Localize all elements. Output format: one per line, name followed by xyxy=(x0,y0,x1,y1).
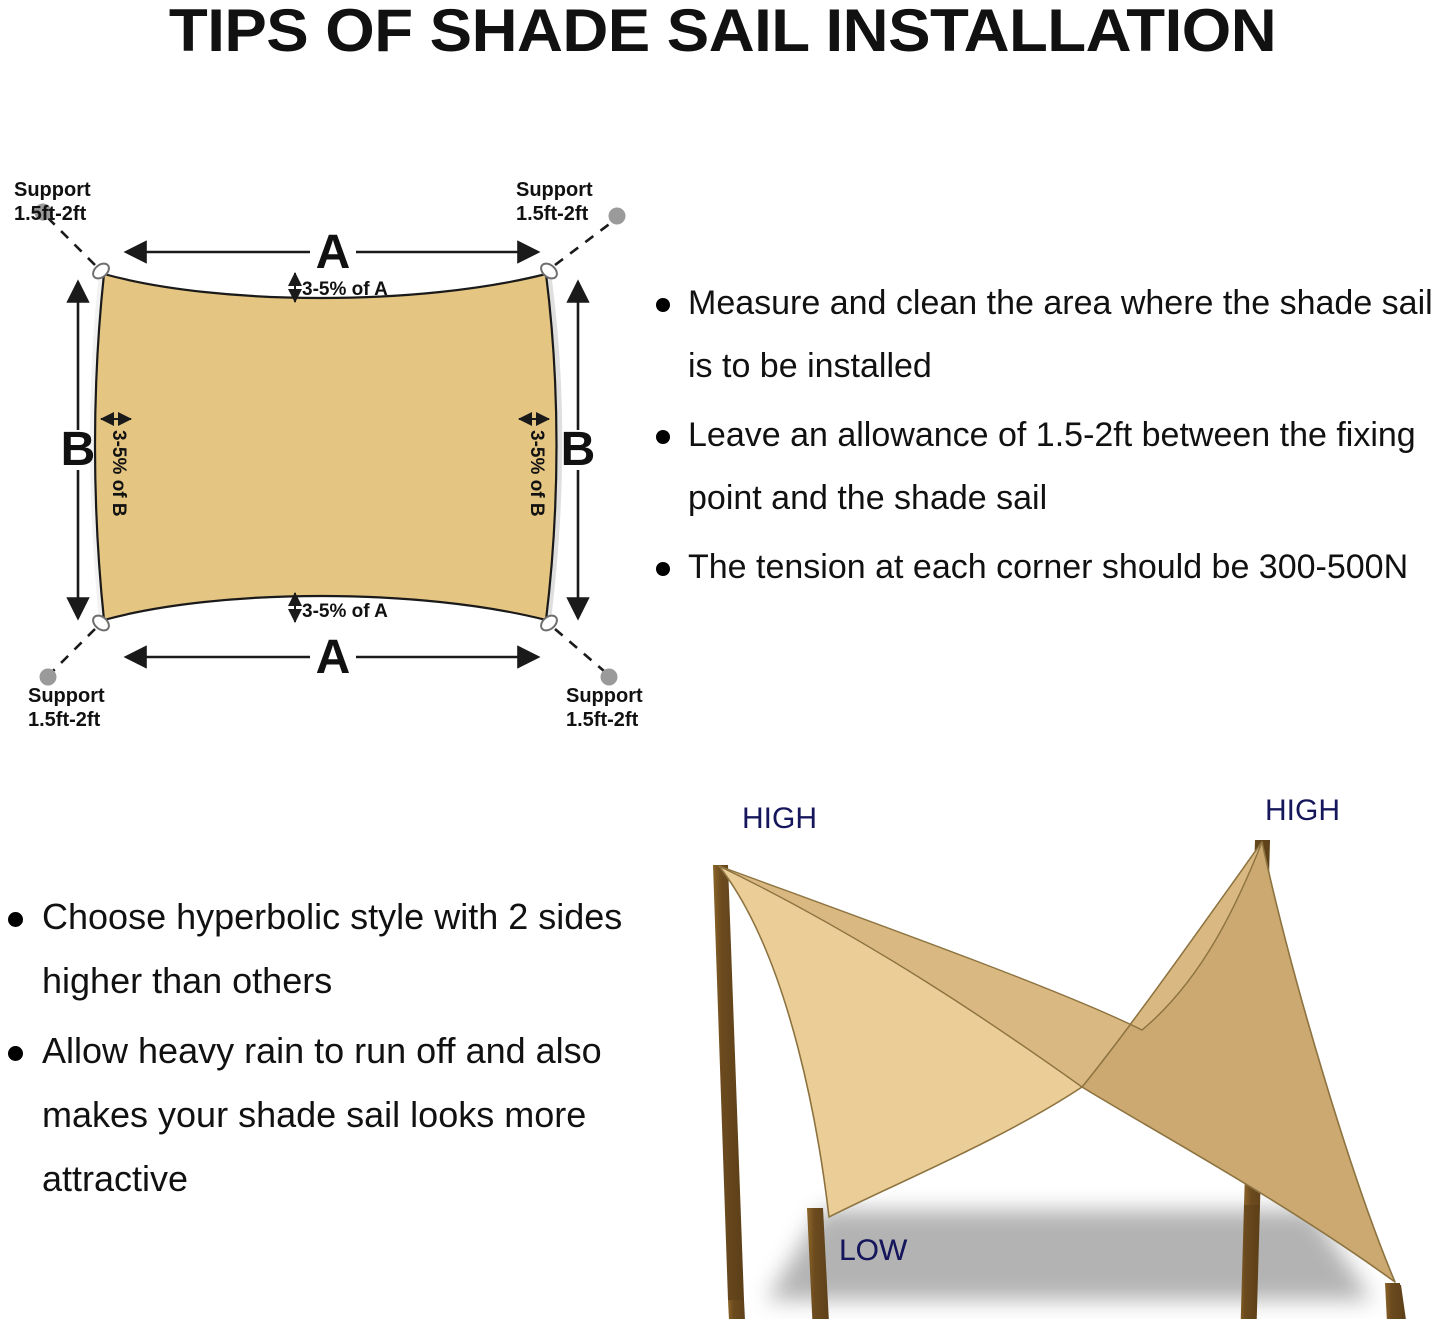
bullet-dot-icon xyxy=(656,430,670,444)
support-dot-icon xyxy=(609,208,626,225)
curve-a-bottom-label: 3-5% of A xyxy=(302,601,388,622)
rect-sail-diagram: Support 1.5ft-2ft Support 1.5ft-2ft Supp… xyxy=(0,150,660,730)
dimension-a-top-label: A xyxy=(316,226,351,279)
post xyxy=(1386,1285,1406,1319)
support-label-bottom-left-line1: Support xyxy=(28,685,105,707)
support-label-bottom-left-line2: 1.5ft-2ft xyxy=(28,709,101,730)
post xyxy=(713,865,744,1300)
dimension-b-right-label: B xyxy=(561,423,596,476)
label-high-left: HIGH xyxy=(742,802,817,835)
list-item: Choose hyperbolic style with 2 sides hig… xyxy=(0,885,625,1013)
list-item-text: Choose hyperbolic style with 2 sides hig… xyxy=(42,896,622,1001)
list-item-text: The tension at each corner should be 300… xyxy=(688,548,1408,586)
support-label-bottom-right-line2: 1.5ft-2ft xyxy=(566,709,639,730)
label-low-left: LOW xyxy=(839,1234,908,1267)
support-label-top-left-line2: 1.5ft-2ft xyxy=(14,203,87,225)
support-label-bottom-right-line1: Support xyxy=(566,685,643,707)
list-item: Allow heavy rain to run off and also mak… xyxy=(0,1019,625,1211)
tips-list-bottom: Choose hyperbolic style with 2 sides hig… xyxy=(0,885,625,1217)
support-dot-icon xyxy=(601,669,618,686)
curve-a-top-label: 3-5% of A xyxy=(302,279,388,300)
hyperbolic-sail-diagram: HIGH HIGH LOW LOW xyxy=(672,780,1445,1319)
support-label-top-right-line2: 1.5ft-2ft xyxy=(516,203,589,225)
bullet-dot-icon xyxy=(656,562,670,576)
support-label-top-left-line1: Support xyxy=(14,179,91,201)
page-title: TIPS OF SHADE SAIL INSTALLATION xyxy=(0,0,1445,62)
list-item: Leave an allowance of 1.5-2ft between th… xyxy=(648,404,1445,530)
dimension-a-bottom-label: A xyxy=(316,631,351,684)
list-item: Measure and clean the area where the sha… xyxy=(648,272,1445,398)
curve-b-left-label: 3-5% of B xyxy=(108,430,129,517)
sail-shape xyxy=(95,274,557,620)
support-dot-icon xyxy=(40,669,57,686)
list-item-text: Leave an allowance of 1.5-2ft between th… xyxy=(688,416,1416,517)
rect-sail-diagram-svg: Support 1.5ft-2ft Support 1.5ft-2ft Supp… xyxy=(0,150,660,730)
hyperbolic-sail-svg: HIGH HIGH LOW LOW xyxy=(672,780,1445,1319)
label-high-right: HIGH xyxy=(1265,794,1340,827)
dimension-b-left-label: B xyxy=(61,423,96,476)
list-item: The tension at each corner should be 300… xyxy=(648,536,1445,599)
list-item-text: Allow heavy rain to run off and also mak… xyxy=(42,1030,602,1199)
bullet-dot-icon xyxy=(8,1046,23,1061)
list-item-text: Measure and clean the area where the sha… xyxy=(688,284,1433,385)
bullet-dot-icon xyxy=(656,298,670,312)
infographic-page: TIPS OF SHADE SAIL INSTALLATION xyxy=(0,0,1445,1319)
support-label-top-right-line1: Support xyxy=(516,179,593,201)
bullet-dot-icon xyxy=(8,912,23,927)
tips-list-top: Measure and clean the area where the sha… xyxy=(648,272,1445,605)
curve-b-right-label: 3-5% of B xyxy=(526,430,547,517)
